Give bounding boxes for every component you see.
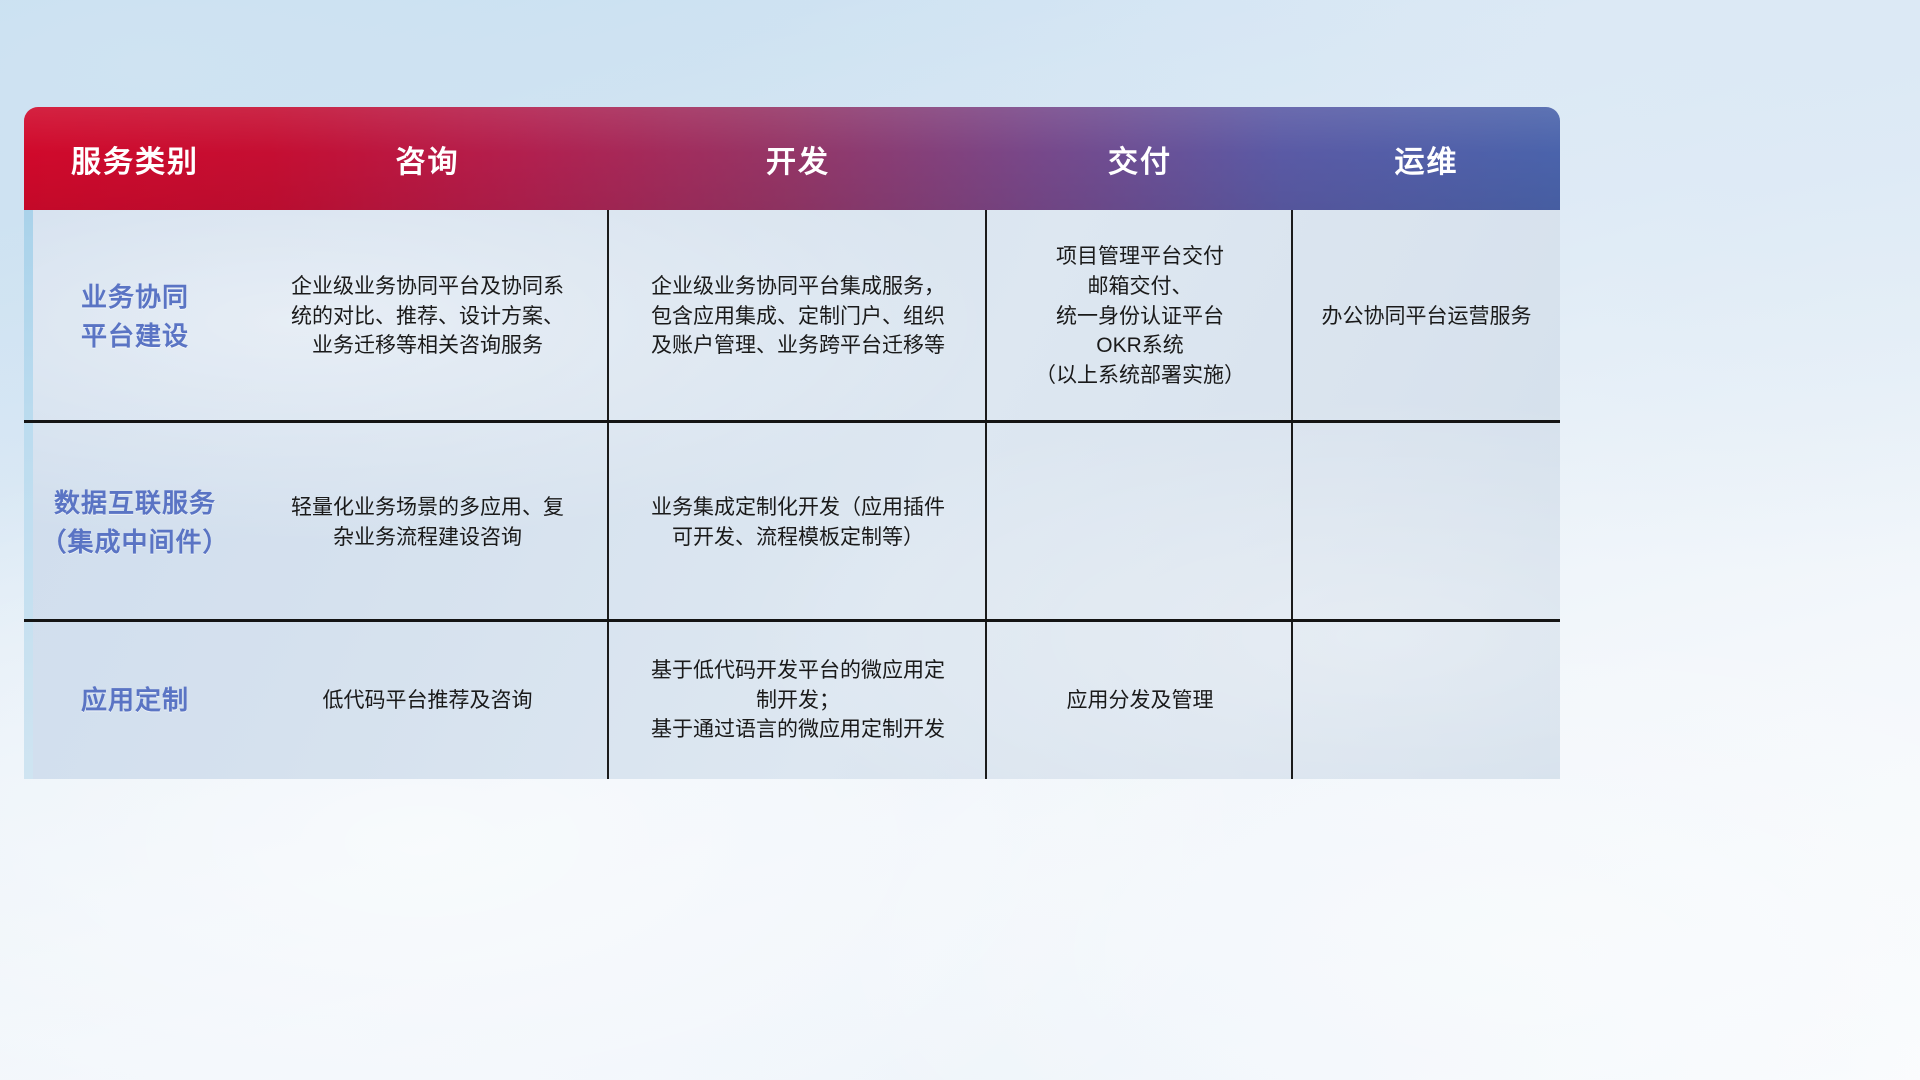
- row-operations-text: 办公协同平台运营服务: [1322, 302, 1532, 332]
- row-delivery-cell: [987, 423, 1293, 622]
- table-header-operations: 运维: [1293, 107, 1560, 210]
- row-operations-cell: [1293, 622, 1560, 779]
- row-consulting-cell: 轻量化业务场景的多应用、复 杂业务流程建设咨询: [246, 423, 609, 622]
- table-header-label: 咨询: [396, 137, 460, 181]
- table-header-service-category: 服务类别: [24, 107, 246, 210]
- row-consulting-cell: 低代码平台推荐及咨询: [246, 622, 609, 779]
- row-category-cell: 数据互联服务 （集成中间件）: [24, 423, 246, 622]
- row-consulting-cell: 企业级业务协同平台及协同系 统的对比、推荐、设计方案、 业务迁移等相关咨询服务: [246, 210, 609, 423]
- row-development-cell: 基于低代码开发平台的微应用定 制开发； 基于通过语言的微应用定制开发: [609, 622, 987, 779]
- table-header-label: 开发: [766, 137, 830, 181]
- row-category-cell: 应用定制: [24, 622, 246, 779]
- row-delivery-cell: 项目管理平台交付 邮箱交付、 统一身份认证平台 OKR系统 （以上系统部署实施）: [987, 210, 1293, 423]
- row-development-text: 基于低代码开发平台的微应用定 制开发； 基于通过语言的微应用定制开发: [651, 656, 945, 745]
- row-development-text: 企业级业务协同平台集成服务， 包含应用集成、定制门户、组织 及账户管理、业务跨平…: [651, 272, 945, 361]
- row-delivery-cell: 应用分发及管理: [987, 622, 1293, 779]
- table-row: 业务协同 平台建设 企业级业务协同平台及协同系 统的对比、推荐、设计方案、 业务…: [24, 210, 1560, 423]
- table-header-label: 交付: [1108, 137, 1172, 181]
- row-delivery-text: 项目管理平台交付 邮箱交付、 统一身份认证平台 OKR系统 （以上系统部署实施）: [1035, 242, 1245, 391]
- row-category-label: 数据互联服务 （集成中间件）: [40, 484, 229, 562]
- table-header-development: 开发: [609, 107, 987, 210]
- row-delivery-text: 应用分发及管理: [1067, 686, 1214, 716]
- row-consulting-text: 轻量化业务场景的多应用、复 杂业务流程建设咨询: [291, 493, 564, 553]
- row-consulting-text: 企业级业务协同平台及协同系 统的对比、推荐、设计方案、 业务迁移等相关咨询服务: [291, 272, 564, 361]
- table-row: 应用定制 低代码平台推荐及咨询 基于低代码开发平台的微应用定 制开发； 基于通过…: [24, 622, 1560, 779]
- service-category-table: 服务类别 咨询 开发 交付 运维 业务协同 平台建设 企业级业务协同平台及协同系…: [24, 107, 1560, 779]
- table-header-delivery: 交付: [987, 107, 1293, 210]
- table-header-consulting: 咨询: [246, 107, 609, 210]
- row-operations-cell: 办公协同平台运营服务: [1293, 210, 1560, 423]
- row-development-text: 业务集成定制化开发（应用插件 可开发、流程模板定制等）: [651, 493, 945, 553]
- row-category-label: 业务协同 平台建设: [81, 278, 189, 356]
- row-consulting-text: 低代码平台推荐及咨询: [323, 686, 533, 716]
- table-row: 数据互联服务 （集成中间件） 轻量化业务场景的多应用、复 杂业务流程建设咨询 业…: [24, 423, 1560, 622]
- row-category-cell: 业务协同 平台建设: [24, 210, 246, 423]
- table-grid: 业务协同 平台建设 企业级业务协同平台及协同系 统的对比、推荐、设计方案、 业务…: [24, 210, 1560, 779]
- table-header-label: 服务类别: [71, 137, 199, 181]
- row-development-cell: 业务集成定制化开发（应用插件 可开发、流程模板定制等）: [609, 423, 987, 622]
- row-operations-cell: [1293, 423, 1560, 622]
- row-category-label: 应用定制: [81, 681, 189, 720]
- table-header-label: 运维: [1395, 137, 1459, 181]
- table-header-row: 服务类别 咨询 开发 交付 运维: [24, 107, 1560, 210]
- row-development-cell: 企业级业务协同平台集成服务， 包含应用集成、定制门户、组织 及账户管理、业务跨平…: [609, 210, 987, 423]
